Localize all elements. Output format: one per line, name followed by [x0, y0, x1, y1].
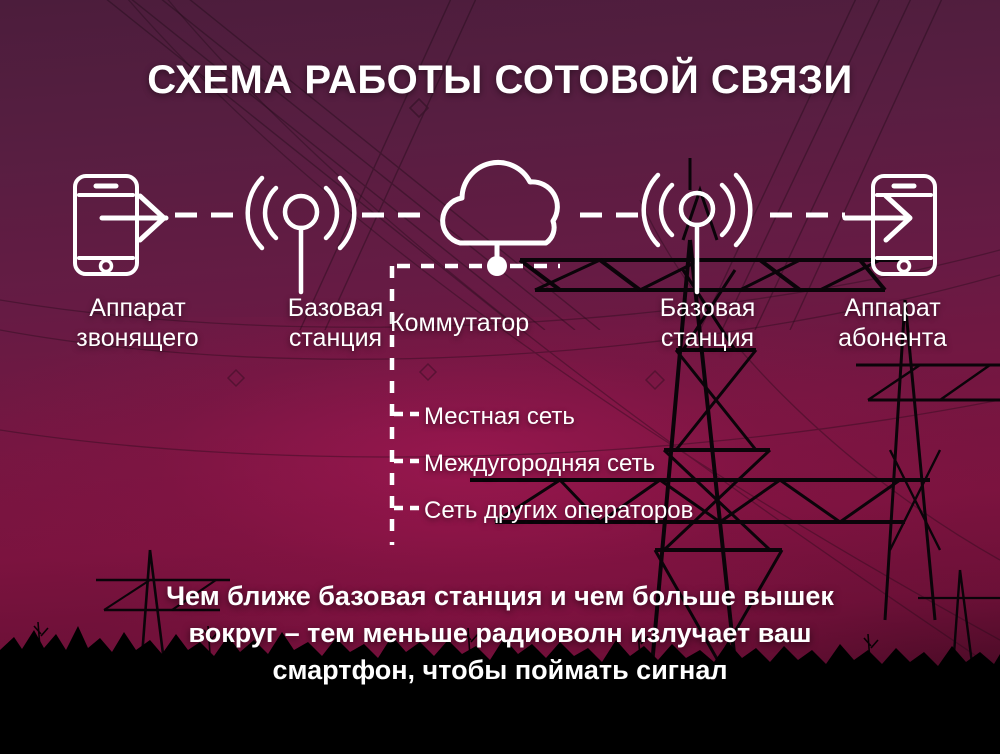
network-item-local: Местная сеть	[424, 403, 575, 431]
network-item-other-operators: Сеть других операторов	[424, 497, 693, 525]
bottom-caption: Чем ближе базовая станция и чем больше в…	[60, 578, 940, 689]
smartphone-outgoing-icon	[75, 176, 166, 274]
switch-node-dot	[487, 256, 507, 276]
cell-tower-signal-icon-2	[644, 175, 751, 292]
cell-tower-signal-icon-1	[248, 178, 355, 292]
smartphone-incoming-icon	[845, 176, 935, 274]
label-subscriber-phone: Аппарат абонента	[775, 293, 1000, 353]
cloud-icon	[443, 162, 558, 243]
infographic-canvas: СХЕМА РАБОТЫ СОТОВОЙ СВЯЗИ	[0, 0, 1000, 754]
label-switch: Коммутатор	[390, 308, 605, 338]
network-item-intercity: Междугородняя сеть	[424, 450, 655, 478]
switch-node-stem	[487, 243, 507, 276]
